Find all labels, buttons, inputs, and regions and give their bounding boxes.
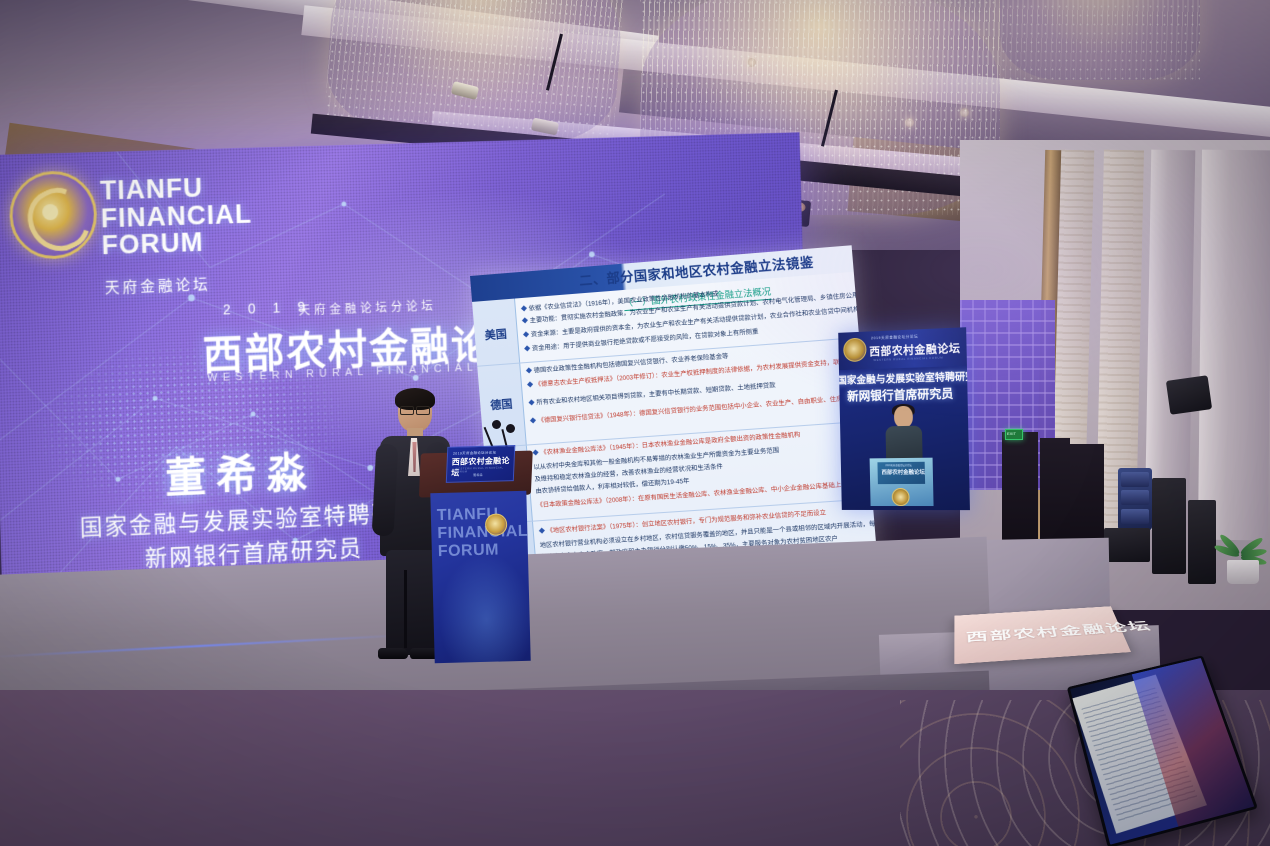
slide-country-de: 德国 [484, 395, 519, 413]
line-array-speaker [1118, 468, 1152, 530]
side-screen-lower-third-2: 新网银行首席研究员 [847, 384, 954, 404]
exit-sign-label: EXIT [1007, 430, 1016, 438]
side-screen-podium: 2019天府金融论坛分论坛 西部农村金融论坛 [870, 458, 934, 506]
forum-wordmark: TIANFU FINANCIAL FORUM [100, 173, 253, 260]
floor-sign-text: 西部农村金融论坛 [966, 617, 1155, 645]
person-shoe [378, 648, 408, 659]
slide-country-us: 美国 [478, 325, 513, 344]
side-screen-podium-emblem [892, 488, 910, 506]
speaker-stack [1152, 478, 1186, 574]
wall-column [1145, 150, 1196, 531]
exit-sign: EXIT [1005, 429, 1023, 440]
wordmark-line3: FORUM [101, 228, 253, 260]
wall-column [1198, 150, 1270, 541]
line-array-cell [1121, 472, 1149, 487]
podium-brand-line3: FORUM [438, 541, 529, 561]
glasses-icon [400, 406, 430, 413]
side-screen-podium-year: 2019天府金融论坛分论坛 [885, 463, 911, 467]
subwoofer [1104, 528, 1150, 562]
side-screen-podium-placard: 2019天府金融论坛分论坛 西部农村金融论坛 [877, 462, 925, 484]
podium-placard-speaker: 董希淼 [473, 472, 483, 477]
flown-speaker [1166, 375, 1212, 415]
person-leg-gap [404, 570, 407, 648]
forum-wordmark-chinese: 天府金融论坛 [104, 273, 210, 298]
side-screen-header: 2019天府金融论坛分论坛 西部农村金融论坛 WESTERN RURAL FIN… [838, 327, 967, 370]
figure-head [894, 406, 913, 428]
speaker-stack [1188, 500, 1216, 584]
microphone-head [506, 424, 515, 433]
presentation-slide: 二、部分国家和地区农村金融立法镜鉴 （一）国外农村政策性金融立法概况 美国 德国… [470, 245, 877, 575]
microphone-head [492, 420, 501, 429]
speaker-podium: 2019天府金融论坛分论坛 西部农村金融论坛 WESTERN RURAL FIN… [429, 451, 530, 663]
line-array-cell [1121, 509, 1149, 524]
podium-placard: 2019天府金融论坛分论坛 西部农村金融论坛 WESTERN RURAL FIN… [446, 445, 516, 483]
plant-pot [1227, 560, 1259, 584]
potted-plant [1215, 520, 1269, 584]
side-screen-year: 2019天府金融论坛分论坛 [871, 334, 918, 341]
tianfu-forum-emblem-small [843, 338, 867, 363]
speaker-name: 董希淼 [164, 439, 317, 506]
podium-emblem-circle [485, 513, 508, 536]
side-screen-podium-title: 西部农村金融论坛 [881, 468, 925, 476]
crystal-chandelier [1000, 0, 1200, 80]
podium-emblem [485, 513, 520, 536]
chandelier-crystals [1000, 0, 1200, 80]
conference-stage-photo: EXIT [0, 0, 1270, 846]
line-array-cell [1121, 490, 1149, 505]
side-display-screen: 2019天府金融论坛分论坛 西部农村金融论坛 WESTERN RURAL FIN… [838, 327, 970, 510]
